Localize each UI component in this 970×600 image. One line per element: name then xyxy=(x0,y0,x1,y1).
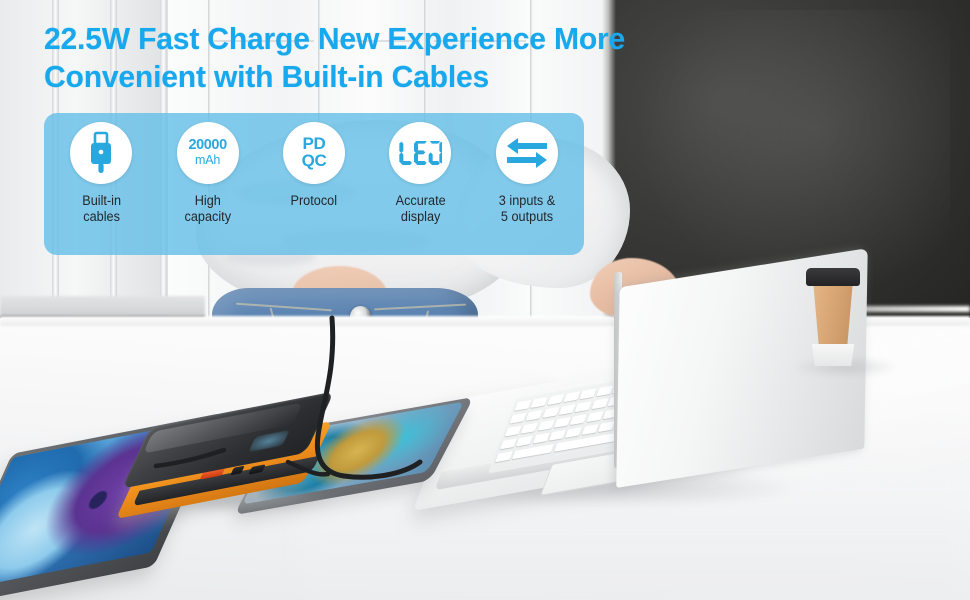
cup-base xyxy=(809,344,857,366)
protocol-badge: PD QC xyxy=(283,122,345,184)
product-banner: 22.5W Fast Charge New Experience More Co… xyxy=(0,0,970,600)
headline-line-2: Convenient with Built-in Cables xyxy=(44,58,801,96)
feature-label: High capacity xyxy=(184,193,231,225)
led-display-badge xyxy=(389,122,451,184)
bidirectional-arrows-icon xyxy=(505,136,549,170)
power-bank xyxy=(130,412,330,504)
feature-panel: Built-in cables 20000 mAh High capacity … xyxy=(44,113,584,255)
capacity-badge: 20000 mAh xyxy=(177,122,239,184)
feature-high-capacity: 20000 mAh High capacity xyxy=(154,122,260,249)
feature-label: Built-in cables xyxy=(82,193,121,225)
coffee-cup xyxy=(800,266,866,374)
feature-label: 3 inputs & 5 outputs xyxy=(499,193,555,225)
capacity-unit: mAh xyxy=(188,154,226,168)
headline-line-1: 22.5W Fast Charge New Experience More xyxy=(44,20,801,58)
feature-label: Protocol xyxy=(291,193,338,209)
capacity-icon: 20000 mAh xyxy=(188,138,226,168)
feature-label: Accurate display xyxy=(395,193,445,225)
feature-built-in-cables: Built-in cables xyxy=(48,122,154,249)
usb-plug-icon xyxy=(84,131,118,175)
capacity-value: 20000 xyxy=(188,138,226,153)
page-title: 22.5W Fast Charge New Experience More Co… xyxy=(44,20,801,96)
window-sill xyxy=(0,296,205,316)
cup-lid xyxy=(806,268,860,286)
protocol-qc: QC xyxy=(302,153,327,170)
feature-accurate-display: Accurate display xyxy=(367,122,473,249)
usb-plug-badge xyxy=(70,122,132,184)
feature-inputs-outputs: 3 inputs & 5 outputs xyxy=(474,122,580,249)
protocol-icon: PD QC xyxy=(302,136,327,169)
bidirectional-arrows-badge xyxy=(496,122,558,184)
led-display-icon xyxy=(398,141,442,165)
feature-protocol: PD QC Protocol xyxy=(261,122,367,249)
